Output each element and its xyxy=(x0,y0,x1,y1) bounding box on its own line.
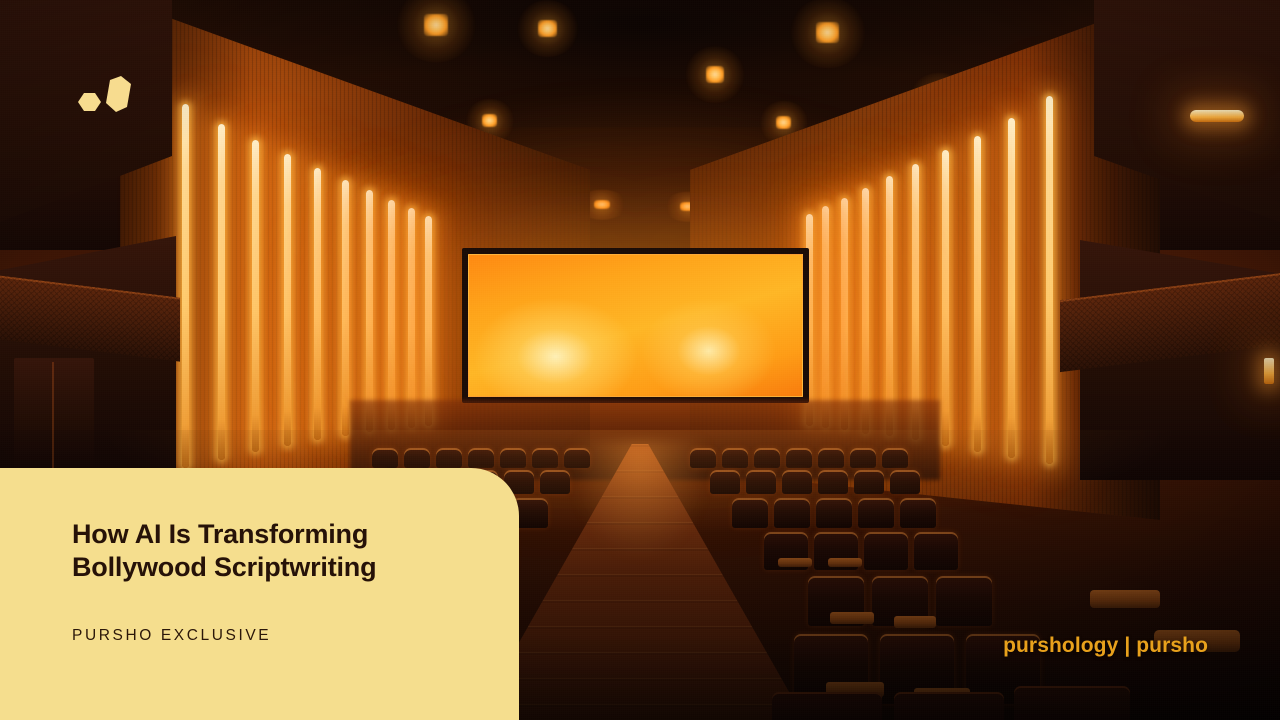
wall-lamp xyxy=(1264,358,1274,384)
hexagon-pair-logo-icon xyxy=(74,72,136,120)
headline-line-2: Bollywood Scriptwriting xyxy=(72,551,467,584)
kicker-label: PURSHO EXCLUSIVE xyxy=(72,627,467,645)
title-card: How AI Is Transforming Bollywood Scriptw… xyxy=(0,468,519,720)
poster-canvas: How AI Is Transforming Bollywood Scriptw… xyxy=(0,0,1280,720)
cinema-screen xyxy=(468,254,803,397)
headline-line-1: How AI Is Transforming xyxy=(72,518,467,551)
page-title: How AI Is Transforming Bollywood Scriptw… xyxy=(72,518,467,585)
wall-lamp xyxy=(1190,110,1244,122)
watermark-text: purshology | pursho xyxy=(1003,634,1208,658)
cinema-screen-frame xyxy=(462,248,809,403)
brand-logo[interactable] xyxy=(74,72,136,120)
title-card-content: How AI Is Transforming Bollywood Scriptw… xyxy=(72,518,467,645)
